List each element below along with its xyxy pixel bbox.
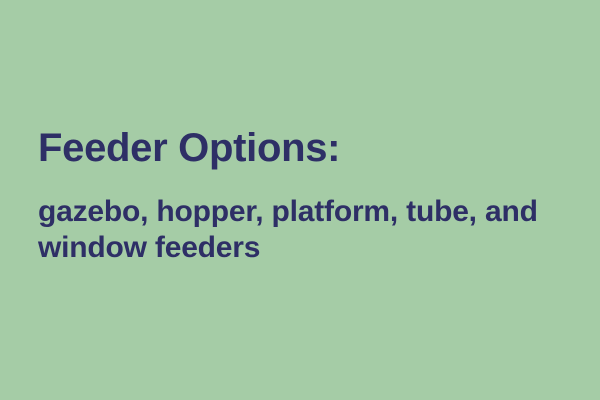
feeder-options-card: Feeder Options: gazebo, hopper, platform… [0, 0, 600, 400]
page-title: Feeder Options: [38, 124, 572, 172]
feeder-options-list: gazebo, hopper, platform, tube, and wind… [38, 172, 570, 266]
text-block: Feeder Options: gazebo, hopper, platform… [38, 124, 572, 266]
